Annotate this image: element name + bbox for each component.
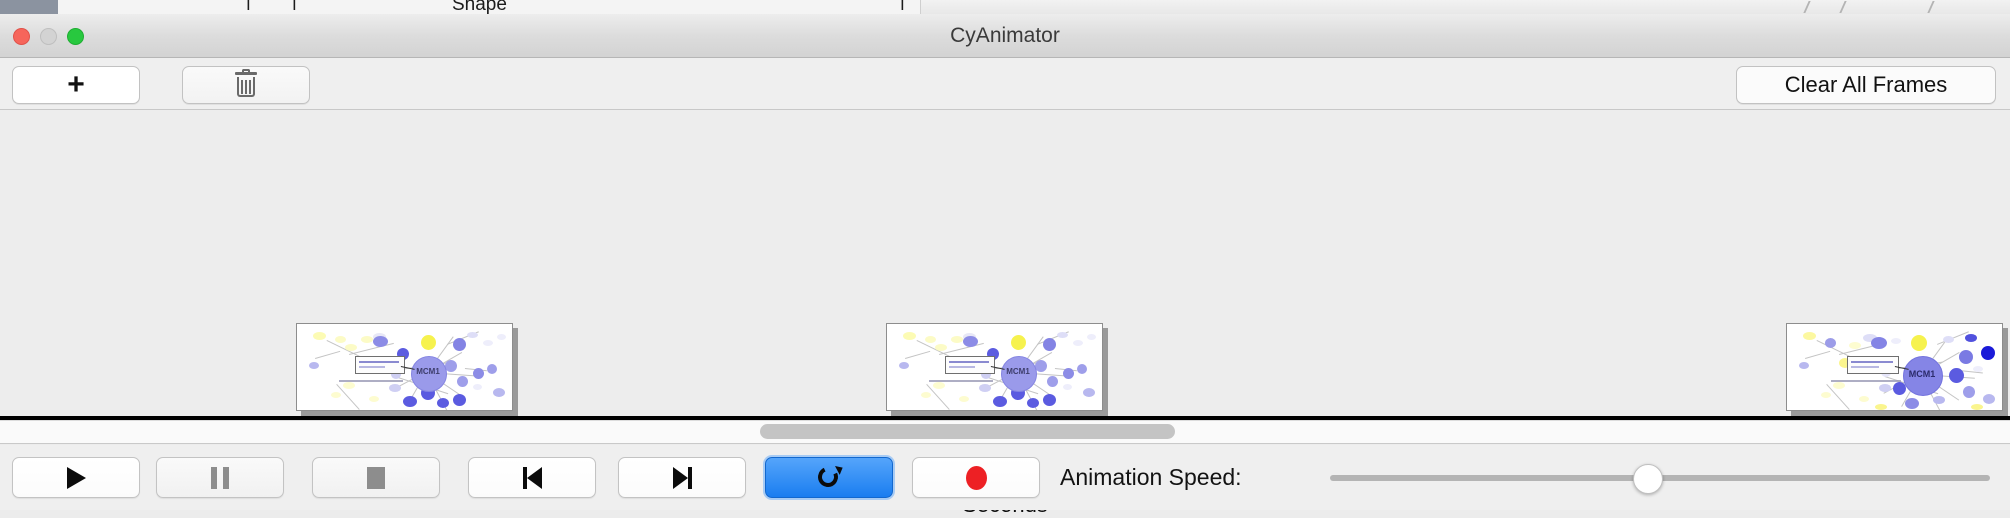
- bg-diagonal: [1927, 1, 1947, 13]
- toolbar: + Clear All Frames: [0, 58, 2010, 110]
- skip-end-button[interactable]: [618, 457, 746, 498]
- bg-glyph: I: [292, 0, 297, 13]
- skip-start-icon: [523, 467, 542, 489]
- zoom-button[interactable]: [67, 28, 84, 45]
- window-title: CyAnimator: [0, 14, 2010, 58]
- callout-box: [945, 356, 995, 374]
- pause-icon: [211, 467, 229, 489]
- bg-glyph: I: [900, 0, 905, 13]
- animation-speed-slider[interactable]: [1330, 475, 1990, 481]
- record-button[interactable]: [912, 457, 1040, 498]
- stop-icon: [367, 467, 385, 489]
- bg-tab: [440, 0, 921, 14]
- bg-glyph: I: [246, 0, 251, 13]
- close-button[interactable]: [13, 28, 30, 45]
- stop-button[interactable]: [312, 457, 440, 498]
- delete-frame-button[interactable]: [182, 66, 310, 104]
- bg-tab-selected: [0, 0, 59, 14]
- minimize-button[interactable]: [40, 28, 57, 45]
- timeline-frame-3[interactable]: MCM1: [1786, 323, 2008, 416]
- hub-node-label: MCM1: [411, 367, 445, 376]
- slider-thumb[interactable]: [1633, 464, 1663, 494]
- network-thumbnail: MCM1: [886, 323, 1103, 411]
- bg-diagonal: [1803, 1, 1823, 13]
- pause-button[interactable]: [156, 457, 284, 498]
- play-button[interactable]: [12, 457, 140, 498]
- bg-tab: [58, 0, 141, 14]
- plus-icon: +: [67, 70, 85, 100]
- play-icon: [67, 467, 86, 489]
- animation-speed-label: Animation Speed:: [1060, 457, 1242, 498]
- bg-window-text: Shape: [452, 0, 507, 13]
- clear-all-frames-label: Clear All Frames: [1785, 72, 1948, 98]
- bg-tab: [320, 0, 441, 14]
- bg-tab: [260, 0, 321, 14]
- playback-bar: Animation Speed:: [0, 445, 2010, 510]
- loop-icon: [816, 465, 842, 491]
- callout-box: [355, 356, 405, 374]
- clear-all-frames-button[interactable]: Clear All Frames: [1736, 66, 1996, 104]
- background-window-strip: I I Shape I: [0, 0, 2010, 15]
- network-thumbnail: MCM1: [296, 323, 513, 411]
- timeline-frame-2[interactable]: MCM1: [886, 323, 1108, 416]
- timeline-frame-1[interactable]: MCM1: [296, 323, 518, 416]
- add-frame-button[interactable]: +: [12, 66, 140, 104]
- skip-start-button[interactable]: [468, 457, 596, 498]
- title-bar[interactable]: CyAnimator: [0, 14, 2010, 58]
- timeline-scrollbar-thumb[interactable]: [760, 424, 1175, 439]
- loop-button[interactable]: [765, 457, 893, 498]
- skip-end-icon: [673, 467, 692, 489]
- timeline-panel[interactable]: MCM1: [0, 110, 2010, 420]
- bg-tab: [140, 0, 189, 14]
- hub-node-label: MCM1: [1903, 369, 1941, 379]
- callout-box: [1847, 356, 1899, 374]
- traffic-lights: [13, 28, 84, 45]
- trash-icon: [235, 72, 257, 98]
- record-icon: [966, 466, 987, 490]
- hub-node-label: MCM1: [1001, 367, 1035, 376]
- cyanimator-window: I I Shape I CyAnimator + Clear All Frame…: [0, 0, 2010, 510]
- bg-diagonal: [1839, 1, 1859, 13]
- network-thumbnail: MCM1: [1786, 323, 2003, 411]
